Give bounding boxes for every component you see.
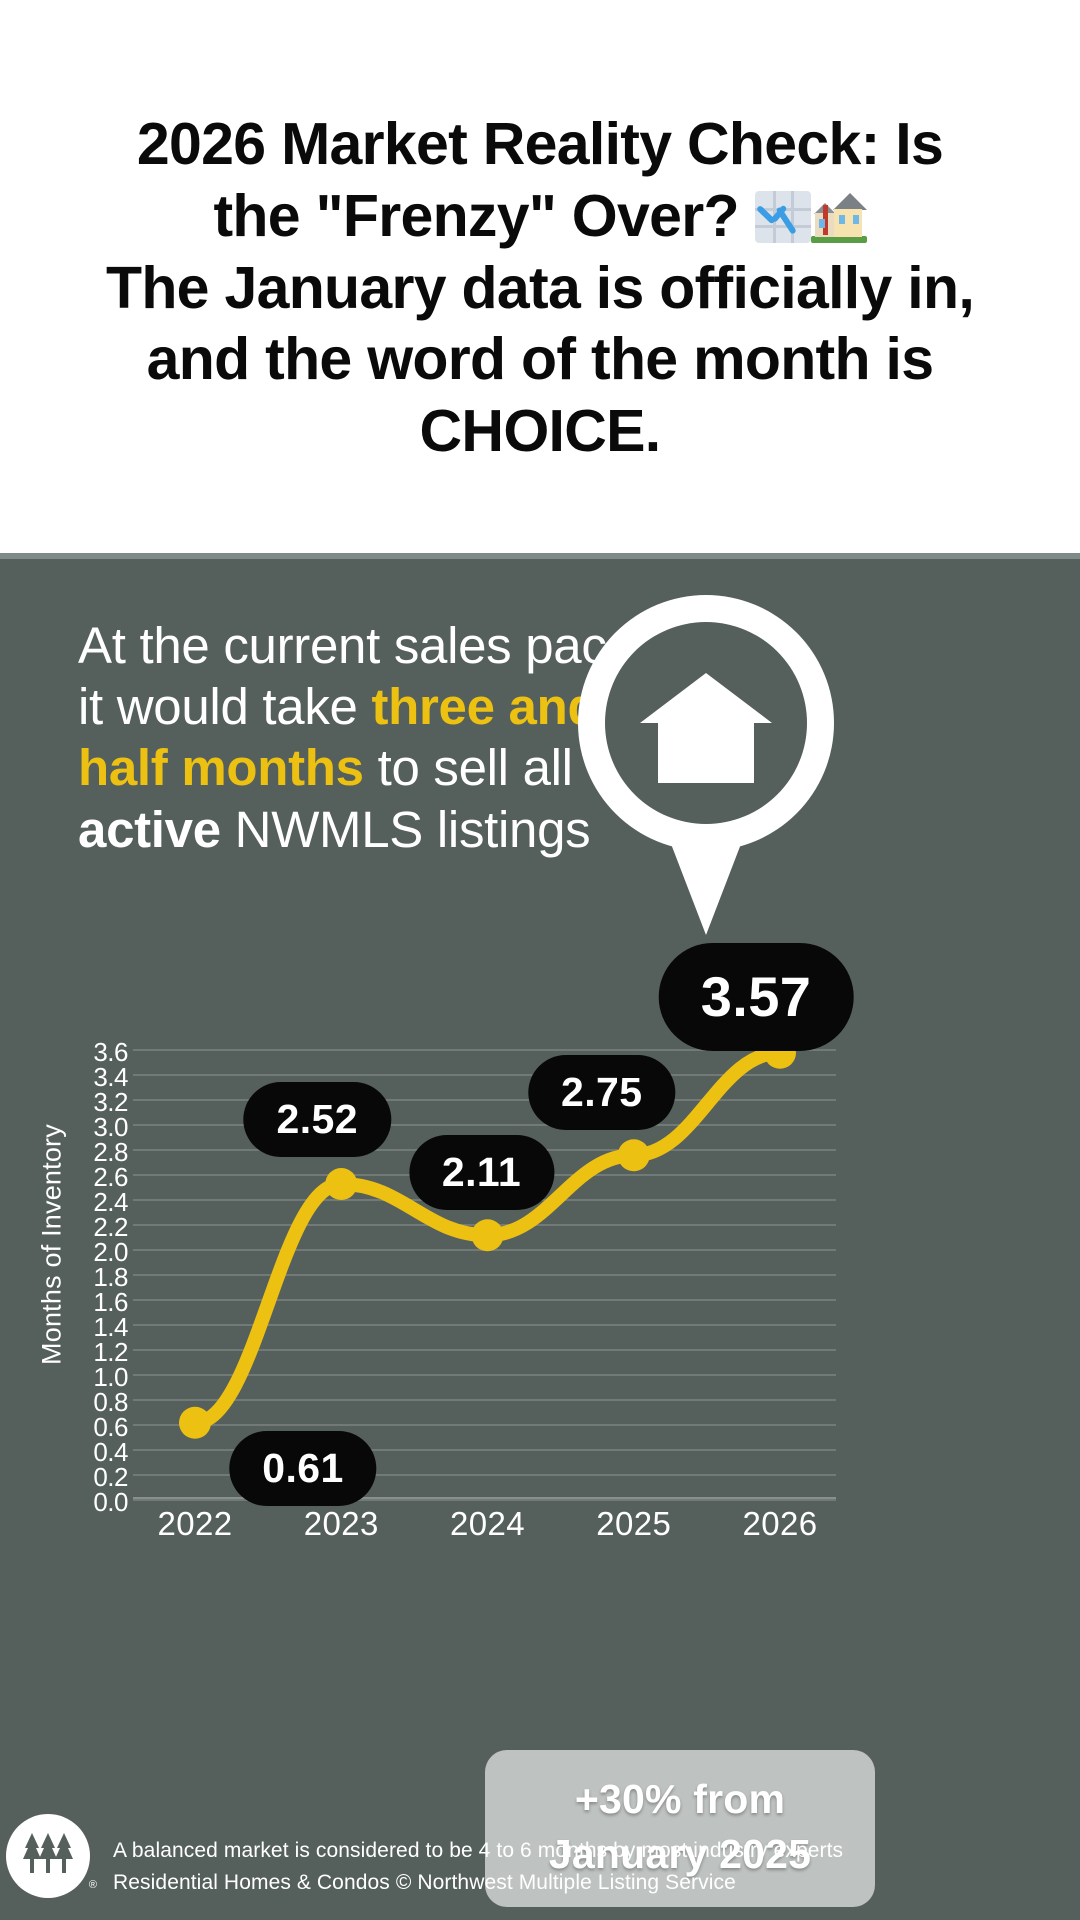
x-tick-label: 2025: [596, 1505, 671, 1543]
callout-line-1: +30% from: [501, 1772, 859, 1827]
data-point-marker: [618, 1139, 650, 1171]
data-point-marker: [325, 1168, 357, 1200]
x-tick-label: 2026: [742, 1505, 817, 1543]
y-tick-label: 0.0: [93, 1489, 128, 1515]
three-trees-glyph: [22, 1831, 74, 1881]
x-axis-line: [133, 1497, 836, 1499]
title-line-1: 2026 Market Reality Check: Is: [137, 111, 943, 177]
x-tick-label: 2023: [304, 1505, 379, 1543]
pin-house-door: [626, 667, 662, 705]
x-tick-label: 2024: [450, 1505, 525, 1543]
data-label-badge: 0.61: [229, 1431, 376, 1506]
title-line-5: CHOICE.: [420, 398, 661, 464]
map-pin-house-icon: [578, 595, 834, 935]
series-line: [133, 1049, 836, 1499]
data-label-badge: 2.11: [409, 1135, 554, 1210]
plot-area: [133, 1049, 836, 1499]
data-point-marker: [472, 1219, 504, 1251]
data-label-badge: 3.57: [659, 943, 854, 1051]
panel-top-divider: [0, 553, 1080, 559]
x-axis-ticks: 20222023202420252026: [133, 1505, 836, 1551]
data-point-marker: [179, 1407, 211, 1439]
houses-icon: [811, 191, 867, 243]
chart-decreasing-icon: [755, 191, 811, 243]
registered-mark: ®: [89, 1879, 97, 1891]
title-line-4: and the word of the month is: [147, 326, 934, 392]
nwmls-trees-logo: ®: [6, 1814, 90, 1898]
chart-footnote: A balanced market is considered to be 4 …: [113, 1835, 1013, 1898]
infographic-panel: At the current sales pace, it would take…: [0, 553, 1080, 1920]
caption-header: 2026 Market Reality Check: Is the "Frenz…: [0, 0, 1080, 553]
footnote-line-1: A balanced market is considered to be 4 …: [113, 1835, 1013, 1867]
lede-bold: active: [78, 801, 221, 858]
data-label-badge: 2.52: [244, 1082, 391, 1157]
title-line-2: the "Frenzy" Over?: [213, 183, 754, 249]
grid-line: [133, 1499, 836, 1501]
x-tick-label: 2022: [157, 1505, 232, 1543]
footnote-line-2: Residential Homes & Condos © Northwest M…: [113, 1867, 1013, 1899]
y-axis-ticks: 3.63.43.23.02.82.62.42.22.01.81.61.41.21…: [62, 1049, 128, 1499]
lede-seg-5: NWMLS listings: [221, 801, 591, 858]
lede-seg-3: to sell all: [364, 739, 573, 796]
page-title: 2026 Market Reality Check: Is the "Frenz…: [106, 109, 974, 469]
title-line-3: The January data is officially in,: [106, 255, 974, 321]
data-label-badge: 2.75: [528, 1055, 675, 1130]
